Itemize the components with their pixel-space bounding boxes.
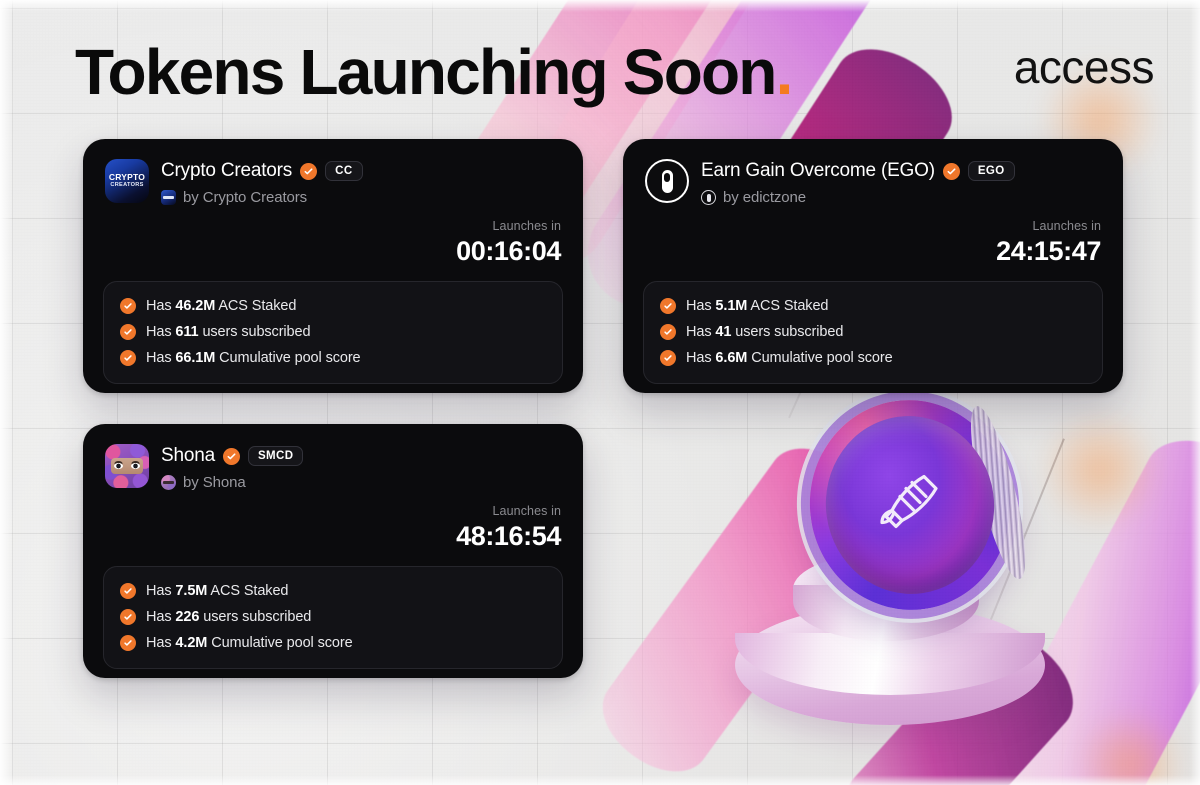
creator-row[interactable]: by Shona xyxy=(161,474,561,491)
page-title: Tokens Launching Soon. xyxy=(75,40,792,104)
stat-value: 7.5M xyxy=(175,583,207,599)
stat-check-icon xyxy=(120,324,136,340)
stat-row: Has 5.1M ACS Staked xyxy=(660,293,1086,319)
stat-value: 5.1M xyxy=(715,298,747,314)
title-accent-dot: . xyxy=(776,36,792,108)
ticker-badge[interactable]: CC xyxy=(325,161,362,181)
ego-capsule-logo xyxy=(645,159,689,203)
stat-row: Has 4.2M Cumulative pool score xyxy=(120,630,546,656)
stat-row: Has 66.1M Cumulative pool score xyxy=(120,345,546,371)
logo-line-1: CRYPTO xyxy=(109,173,145,182)
stat-prefix: Has xyxy=(686,324,715,340)
stat-suffix: Cumulative pool score xyxy=(215,350,360,366)
logo-line-2: CREATORS xyxy=(110,183,143,189)
name-row: Shona SMCD xyxy=(161,445,561,467)
countdown-timer: 24:15:47 xyxy=(645,237,1101,265)
stat-check-icon xyxy=(660,324,676,340)
project-name: Shona xyxy=(161,445,215,467)
card-header: Earn Gain Overcome (EGO) EGO by edictzon… xyxy=(623,139,1123,206)
stat-suffix: users subscribed xyxy=(199,609,311,625)
stat-prefix: Has xyxy=(146,583,175,599)
launches-in-label: Launches in xyxy=(105,504,561,518)
stat-value: 4.2M xyxy=(175,635,207,651)
stat-value: 6.6M xyxy=(715,350,747,366)
stat-check-icon xyxy=(120,609,136,625)
ticker-badge[interactable]: EGO xyxy=(968,161,1015,181)
stat-prefix: Has xyxy=(146,298,175,314)
crypto-creators-logo: CRYPTO CREATORS xyxy=(105,159,149,203)
stat-prefix: Has xyxy=(146,635,175,651)
verified-check-icon xyxy=(300,163,317,180)
launch-block: Launches in 00:16:04 xyxy=(83,206,583,265)
token-card[interactable]: Earn Gain Overcome (EGO) EGO by edictzon… xyxy=(623,139,1123,393)
stat-value: 611 xyxy=(175,324,198,340)
stat-suffix: ACS Staked xyxy=(207,583,288,599)
stat-row: Has 7.5M ACS Staked xyxy=(120,578,546,604)
project-name: Crypto Creators xyxy=(161,160,292,182)
launch-block: Launches in 48:16:54 xyxy=(83,491,583,550)
creator-avatar xyxy=(161,475,176,490)
stat-check-icon xyxy=(660,298,676,314)
stat-suffix: users subscribed xyxy=(199,324,311,340)
token-card[interactable]: CRYPTO CREATORS Crypto Creators CC by Cr… xyxy=(83,139,583,393)
stats-panel: Has 5.1M ACS Staked Has 41 users subscri… xyxy=(643,281,1103,384)
stat-row: Has 6.6M Cumulative pool score xyxy=(660,345,1086,371)
stat-value: 46.2M xyxy=(175,298,215,314)
stat-row: Has 226 users subscribed xyxy=(120,604,546,630)
creator-row[interactable]: by Crypto Creators xyxy=(161,189,561,206)
creator-name: by Crypto Creators xyxy=(183,189,307,206)
name-row: Earn Gain Overcome (EGO) EGO xyxy=(701,160,1101,182)
stats-panel: Has 7.5M ACS Staked Has 226 users subscr… xyxy=(103,566,563,669)
stat-suffix: Cumulative pool score xyxy=(747,350,892,366)
launches-in-label: Launches in xyxy=(105,219,561,233)
card-header: CRYPTO CREATORS Crypto Creators CC by Cr… xyxy=(83,139,583,206)
launches-in-label: Launches in xyxy=(645,219,1101,233)
stat-prefix: Has xyxy=(146,350,175,366)
creator-avatar xyxy=(701,190,716,205)
creator-avatar xyxy=(161,190,176,205)
stats-panel: Has 46.2M ACS Staked Has 611 users subsc… xyxy=(103,281,563,384)
page-title-text: Tokens Launching Soon xyxy=(75,36,776,108)
verified-check-icon xyxy=(943,163,960,180)
stat-row: Has 46.2M ACS Staked xyxy=(120,293,546,319)
verified-check-icon xyxy=(223,448,240,465)
stat-check-icon xyxy=(660,350,676,366)
stat-row: Has 611 users subscribed xyxy=(120,319,546,345)
creator-row[interactable]: by edictzone xyxy=(701,189,1101,206)
stat-check-icon xyxy=(120,298,136,314)
poster-canvas: Tokens Launching Soon. access CRYPTO CRE… xyxy=(0,0,1200,785)
stat-prefix: Has xyxy=(146,609,175,625)
stat-suffix: ACS Staked xyxy=(215,298,296,314)
stat-prefix: Has xyxy=(686,350,715,366)
stat-suffix: Cumulative pool score xyxy=(207,635,352,651)
stat-prefix: Has xyxy=(686,298,715,314)
stat-suffix: ACS Staked xyxy=(747,298,828,314)
countdown-timer: 48:16:54 xyxy=(105,522,561,550)
countdown-timer: 00:16:04 xyxy=(105,237,561,265)
creator-name: by Shona xyxy=(183,474,246,491)
stat-row: Has 41 users subscribed xyxy=(660,319,1086,345)
card-header: Shona SMCD by Shona xyxy=(83,424,583,491)
stat-check-icon xyxy=(120,635,136,651)
token-card[interactable]: Shona SMCD by Shona Launches in 48:16:54… xyxy=(83,424,583,678)
name-row: Crypto Creators CC xyxy=(161,160,561,182)
stat-prefix: Has xyxy=(146,324,175,340)
stat-check-icon xyxy=(120,583,136,599)
stat-value: 66.1M xyxy=(175,350,215,366)
stat-check-icon xyxy=(120,350,136,366)
ticker-badge[interactable]: SMCD xyxy=(248,446,303,466)
shona-face-artwork xyxy=(105,444,149,488)
creator-name: by edictzone xyxy=(723,189,806,206)
stat-value: 226 xyxy=(175,609,199,625)
brand-logo: access xyxy=(1014,44,1154,90)
stat-value: 41 xyxy=(715,324,731,340)
stat-suffix: users subscribed xyxy=(731,324,843,340)
launch-block: Launches in 24:15:47 xyxy=(623,206,1123,265)
project-name: Earn Gain Overcome (EGO) xyxy=(701,160,935,182)
